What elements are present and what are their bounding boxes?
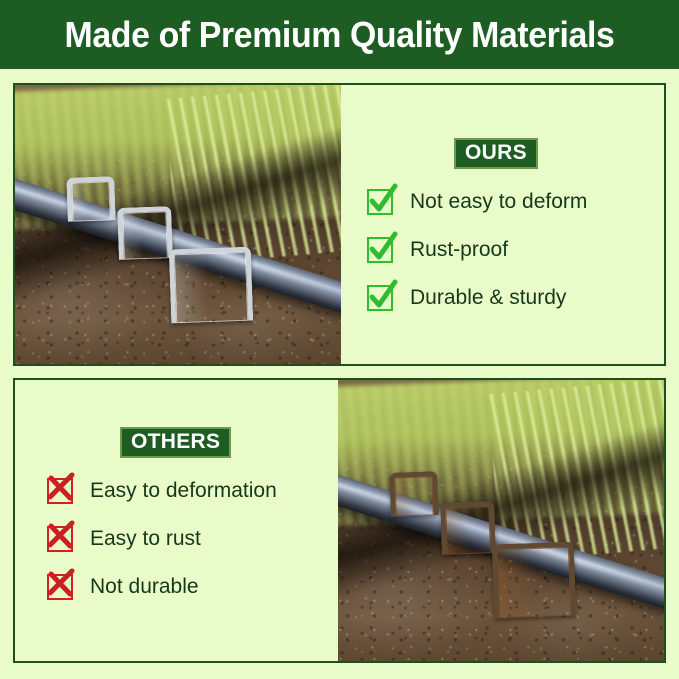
comparison-panel-ours: OURS Not easy to deform [13, 83, 666, 366]
list-item: Not durable [47, 563, 370, 611]
check-icon [367, 235, 397, 265]
list-item: Not easy to deform [367, 178, 666, 226]
page-title: Made of Premium Quality Materials [65, 14, 615, 56]
garden-staple-shiny-3 [169, 247, 254, 324]
ours-feature-list: Not easy to deform Rust-proof [341, 85, 666, 322]
list-item-label: Rust-proof [410, 238, 508, 262]
ours-text-side: OURS Not easy to deform [341, 85, 664, 364]
photo-ours-shiny-staples [15, 85, 341, 364]
list-item-label: Easy to rust [90, 527, 201, 551]
list-item: Durable & sturdy [367, 274, 666, 322]
check-icon [367, 187, 397, 217]
infographic-canvas: Made of Premium Quality Materials OURS [0, 0, 679, 679]
cross-icon [47, 572, 77, 602]
garden-staple-rusty-2 [440, 501, 496, 555]
cross-icon [47, 524, 77, 554]
garden-staple-shiny-1 [66, 176, 116, 222]
others-text-side: OTHERS Easy to deformation [15, 380, 338, 661]
list-item: Rust-proof [367, 226, 666, 274]
list-item: Easy to deformation [47, 467, 370, 515]
garden-staple-shiny-2 [117, 206, 173, 260]
photo-others-rusty-staples [338, 380, 664, 661]
list-item-label: Not easy to deform [410, 190, 587, 214]
others-feature-list: Easy to deformation Easy to rust [15, 380, 370, 611]
list-item-label: Easy to deformation [90, 479, 277, 503]
check-icon [367, 283, 397, 313]
cross-icon [47, 476, 77, 506]
list-item: Easy to rust [47, 515, 370, 563]
comparison-panel-others: OTHERS Easy to deformation [13, 378, 666, 663]
garden-staple-rusty-1 [389, 471, 439, 517]
header-banner: Made of Premium Quality Materials [0, 0, 679, 69]
list-item-label: Durable & sturdy [410, 286, 566, 310]
garden-staple-rusty-3 [492, 542, 577, 619]
list-item-label: Not durable [90, 575, 199, 599]
